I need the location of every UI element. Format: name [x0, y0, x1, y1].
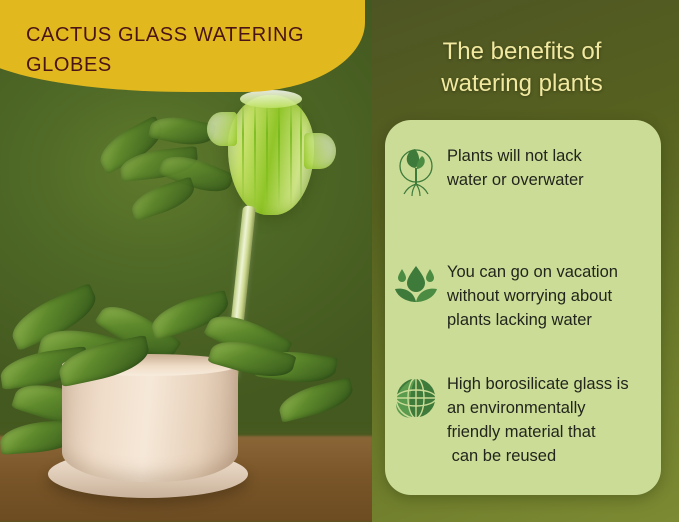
benefit-text-line: an environmentally [447, 396, 629, 420]
benefit-text-line: friendly material that [447, 420, 629, 444]
benefit-text-line: plants lacking water [447, 308, 618, 332]
benefits-heading-line-1: The benefits of [372, 36, 672, 68]
page-title-line-2: GLOBES [26, 50, 346, 80]
water-drops-over-leaves-icon [385, 260, 447, 308]
sprout-with-roots-icon [385, 144, 447, 198]
page-title-line-1: CACTUS GLASS WATERING [26, 20, 346, 50]
globe-leaf-recycle-icon [385, 372, 447, 422]
benefit-text: Plants will not lack water or overwater [447, 144, 594, 192]
benefit-text-line: You can go on vacation [447, 260, 618, 284]
glass-watering-globe [228, 95, 314, 215]
benefits-heading: The benefits of watering plants [372, 36, 672, 100]
page-title: CACTUS GLASS WATERING GLOBES [26, 20, 346, 80]
globe-right-arm [304, 133, 336, 169]
benefits-panel: Plants will not lack water or overwater … [385, 120, 661, 495]
globe-left-arm [207, 112, 237, 146]
benefit-text: High borosilicate glass is an environmen… [447, 372, 639, 468]
product-infographic: CACTUS GLASS WATERING GLOBES The benefit… [0, 0, 679, 522]
benefit-text-line: Plants will not lack [447, 144, 584, 168]
benefit-text-line: High borosilicate glass is [447, 372, 629, 396]
benefits-heading-line-2: watering plants [372, 68, 672, 100]
benefit-item: High borosilicate glass is an environmen… [385, 372, 661, 468]
benefit-text: You can go on vacation without worrying … [447, 260, 628, 332]
benefit-text-line: without worrying about [447, 284, 618, 308]
benefit-text-line: water or overwater [447, 168, 584, 192]
benefit-text-line: can be reused [447, 444, 629, 468]
benefit-item: You can go on vacation without worrying … [385, 260, 661, 332]
globe-top-cap [240, 90, 302, 108]
benefit-item: Plants will not lack water or overwater [385, 144, 661, 198]
